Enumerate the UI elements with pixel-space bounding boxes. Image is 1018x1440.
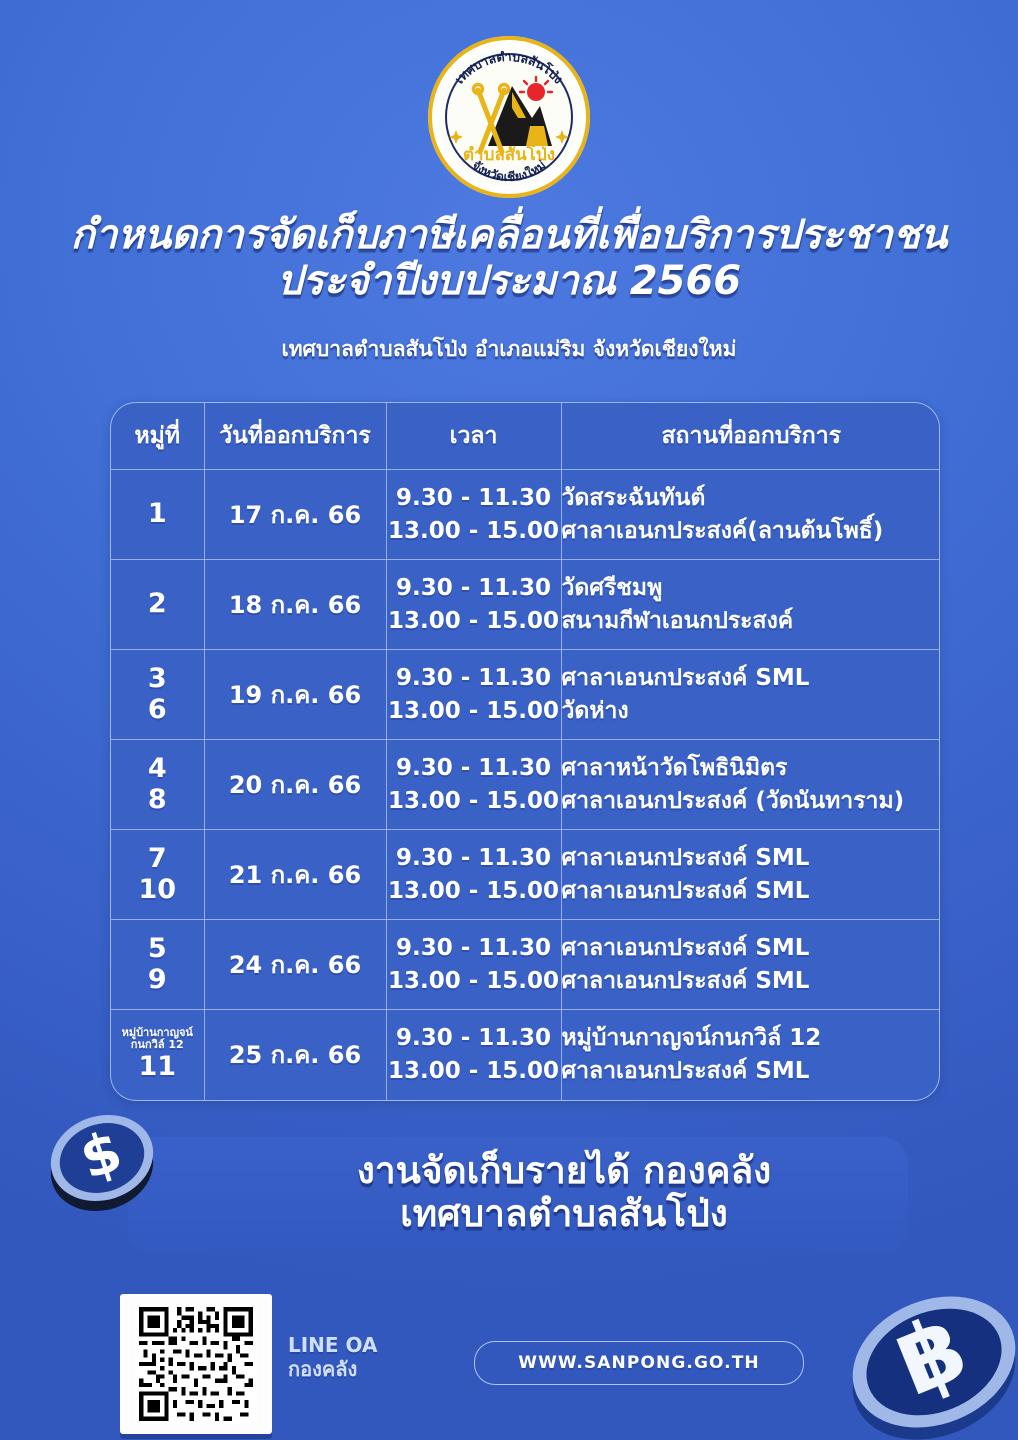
cell-moo: 59 — [111, 920, 204, 1010]
banner-line-2: เทศบาลตำบลสันโป่ง — [150, 1193, 978, 1236]
column-header-time: เวลา — [386, 403, 561, 470]
line-oa-subtitle: กองคลัง — [288, 1357, 458, 1381]
cell-place: หมู่บ้านกาญจน์กนกวิล์ 12ศาลาเอนกประสงค์ … — [561, 1010, 940, 1100]
cell-time: 9.30 - 11.3013.00 - 15.00 — [386, 1010, 561, 1100]
cell-moo: 710 — [111, 830, 204, 920]
line-oa-title: LINE OA — [288, 1333, 378, 1357]
title-line-2: ประจำปีงบประมาณ 2566 — [40, 258, 978, 304]
cell-place: ศาลาหน้าวัดโพธินิมิตรศาลาเอนกประสงค์ (วั… — [561, 740, 940, 830]
schedule-table-card: หมู่ที่ วันที่ออกบริการ เวลา สถานที่ออกบ… — [110, 402, 940, 1101]
cell-place: วัดสระฉันทันต์ศาลาเอนกประสงค์(ลานต้นโพธิ… — [561, 470, 940, 560]
column-header-moo: หมู่ที่ — [111, 403, 204, 470]
cell-date: 24 ก.ค. 66 — [204, 920, 386, 1010]
qr-code-icon — [132, 1303, 260, 1425]
cell-moo: หมู่บ้านกาญจน์กนกวิล์ 1211 — [111, 1010, 204, 1100]
column-header-date: วันที่ออกบริการ — [204, 403, 386, 470]
cell-moo-number: 11 — [111, 1052, 204, 1083]
column-header-place: สถานที่ออกบริการ — [561, 403, 940, 470]
table-row: 117 ก.ค. 669.30 - 11.3013.00 - 15.00วัดส… — [111, 470, 940, 560]
schedule-table-body: 117 ก.ค. 669.30 - 11.3013.00 - 15.00วัดส… — [111, 470, 940, 1100]
cell-date: 19 ก.ค. 66 — [204, 650, 386, 740]
cell-moo: 1 — [111, 470, 204, 560]
cell-place: ศาลาเอนกประสงค์ SMLศาลาเอนกประสงค์ SML — [561, 920, 940, 1010]
cell-date: 21 ก.ค. 66 — [204, 830, 386, 920]
poster-canvas: ตำบลสันโป่ง เทศบาลตำบลสันโป่ง จังหวัดเชี… — [0, 0, 1018, 1440]
title-line-1: กำหนดการจัดเก็บภาษีเคลื่อนที่เพื่อบริการ… — [71, 212, 948, 258]
cell-time: 9.30 - 11.3013.00 - 15.00 — [386, 470, 561, 560]
department-banner-text: งานจัดเก็บรายได้ กองคลัง เทศบาลตำบลสันโป… — [150, 1150, 978, 1236]
line-oa-qr-code[interactable] — [120, 1294, 272, 1434]
municipal-seal-logo: ตำบลสันโป่ง เทศบาลตำบลสันโป่ง จังหวัดเชี… — [426, 34, 592, 200]
baht-coin-icon: ฿ — [846, 1282, 1018, 1440]
cell-moo: 48 — [111, 740, 204, 830]
line-oa-label: LINE OA กองคลัง — [288, 1333, 458, 1382]
table-row: 71021 ก.ค. 669.30 - 11.3013.00 - 15.00ศา… — [111, 830, 940, 920]
cell-date: 25 ก.ค. 66 — [204, 1010, 386, 1100]
cell-place: ศาลาเอนกประสงค์ SMLศาลาเอนกประสงค์ SML — [561, 830, 940, 920]
cell-moo-small: หมู่บ้านกาญจน์กนกวิล์ 12 — [111, 1027, 204, 1052]
cell-time: 9.30 - 11.3013.00 - 15.00 — [386, 920, 561, 1010]
page-title: กำหนดการจัดเก็บภาษีเคลื่อนที่เพื่อบริการ… — [0, 212, 1018, 305]
cell-date: 20 ก.ค. 66 — [204, 740, 386, 830]
cell-moo: 2 — [111, 560, 204, 650]
cell-moo: 36 — [111, 650, 204, 740]
cell-date: 17 ก.ค. 66 — [204, 470, 386, 560]
table-row: หมู่บ้านกาญจน์กนกวิล์ 121125 ก.ค. 669.30… — [111, 1010, 940, 1100]
cell-time: 9.30 - 11.3013.00 - 15.00 — [386, 830, 561, 920]
banner-line-1: งานจัดเก็บรายได้ กองคลัง — [357, 1149, 771, 1192]
cell-time: 9.30 - 11.3013.00 - 15.00 — [386, 740, 561, 830]
table-row: 5924 ก.ค. 669.30 - 11.3013.00 - 15.00ศาล… — [111, 920, 940, 1010]
table-row: 218 ก.ค. 669.30 - 11.3013.00 - 15.00วัดศ… — [111, 560, 940, 650]
cell-time: 9.30 - 11.3013.00 - 15.00 — [386, 560, 561, 650]
table-row: 3619 ก.ค. 669.30 - 11.3013.00 - 15.00ศาล… — [111, 650, 940, 740]
municipal-seal-icon: ตำบลสันโป่ง เทศบาลตำบลสันโป่ง จังหวัดเชี… — [426, 34, 592, 200]
table-header-row: หมู่ที่ วันที่ออกบริการ เวลา สถานที่ออกบ… — [111, 403, 940, 470]
website-url-text: WWW.SANPONG.GO.TH — [518, 1353, 760, 1373]
schedule-table: หมู่ที่ วันที่ออกบริการ เวลา สถานที่ออกบ… — [111, 403, 940, 1100]
table-row: 4820 ก.ค. 669.30 - 11.3013.00 - 15.00ศาล… — [111, 740, 940, 830]
website-url-pill[interactable]: WWW.SANPONG.GO.TH — [474, 1341, 804, 1385]
dollar-coin-icon: $ — [44, 1104, 160, 1216]
page-subtitle: เทศบาลตำบลสันโป่ง อำเภอแม่ริม จังหวัดเชี… — [0, 333, 1018, 366]
cell-place: ศาลาเอนกประสงค์ SMLวัดห่าง — [561, 650, 940, 740]
cell-date: 18 ก.ค. 66 — [204, 560, 386, 650]
cell-time: 9.30 - 11.3013.00 - 15.00 — [386, 650, 561, 740]
cell-place: วัดศรีชมพูสนามกีฬาเอนกประสงค์ — [561, 560, 940, 650]
